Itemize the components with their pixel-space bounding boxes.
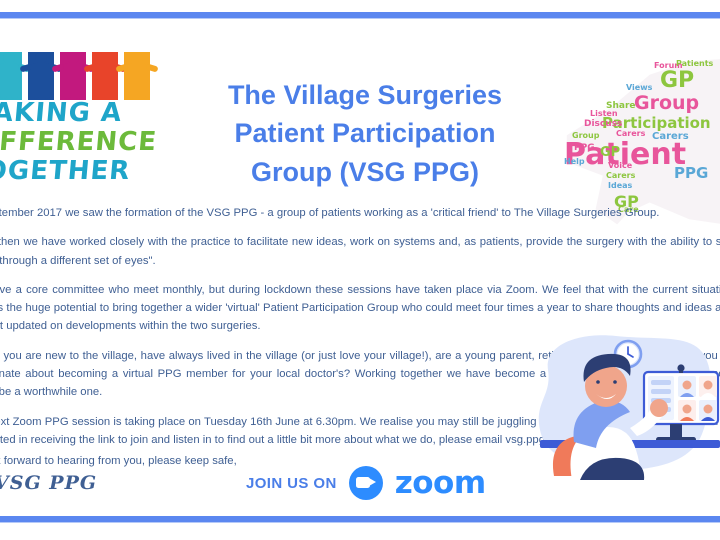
cloud-word-gp-9: GP <box>600 146 620 159</box>
video-camera-icon <box>349 466 383 500</box>
zoom-lockup: JOIN US ON zoom <box>246 466 486 500</box>
making-a-difference-logo: MAKING A DIFFERENCE TOGETHER <box>0 42 179 202</box>
cloud-word-help-20: Help <box>564 158 585 166</box>
title-line-2: Patient Participation <box>180 114 550 152</box>
paper-person-2 <box>0 52 22 100</box>
paper-person-6 <box>124 52 150 100</box>
top-accent-rule <box>0 12 720 18</box>
cloud-word-ideas-15: Ideas <box>608 182 632 190</box>
cloud-word-patients-17: Patients <box>676 60 713 68</box>
join-us-on-label: JOIN US ON <box>246 475 337 492</box>
cloud-word-listen-19: Listen <box>590 110 618 118</box>
logo-line-3: TOGETHER <box>0 158 179 184</box>
paragraph-2: Since then we have worked closely with t… <box>0 233 720 270</box>
cloud-word-carers-7: Carers <box>652 132 689 142</box>
video-call-illustration <box>520 330 720 480</box>
logo-line-1: MAKING A <box>0 100 179 126</box>
cloud-word-ppg-12: PPG <box>574 144 595 153</box>
paragraph-3: We have a core committee who meet monthl… <box>0 281 720 336</box>
logo-wordmark: MAKING A DIFFERENCE TOGETHER <box>0 100 178 187</box>
cloud-word-voice-13: Voice <box>608 162 632 170</box>
bottom-accent-rule <box>0 516 720 522</box>
video-call-svg <box>520 330 720 480</box>
title-line-3: Group (VSG PPG) <box>180 153 550 191</box>
paper-person-5 <box>92 52 118 100</box>
zoom-wordmark: zoom <box>395 465 486 501</box>
signature: VSG PPG <box>0 472 97 494</box>
poster-header: MAKING A DIFFERENCE TOGETHER The Village… <box>0 24 720 204</box>
cloud-word-carers-8: Carers <box>616 130 645 138</box>
cloud-word-group-2: Group <box>634 94 699 113</box>
cloud-word-carers-14: Carers <box>606 172 635 180</box>
cloud-word-views-18: Views <box>626 84 652 92</box>
paper-person-3 <box>28 52 54 100</box>
paper-person-4 <box>60 52 86 100</box>
cloud-word-ppg-4: PPG <box>674 166 708 181</box>
cloud-word-gp-3: GP <box>660 70 694 92</box>
cloud-word-group-11: Group <box>572 132 599 140</box>
poster-canvas: MAKING A DIFFERENCE TOGETHER The Village… <box>0 0 720 540</box>
camera-body-shape <box>356 477 370 488</box>
title-line-1: The Village Surgeries <box>180 76 550 114</box>
camera-lens-shape <box>369 478 376 486</box>
paragraph-1: In September 2017 we saw the formation o… <box>0 204 720 222</box>
paper-people-chain-icon <box>0 46 179 104</box>
poster-title: The Village Surgeries Patient Participat… <box>180 76 550 191</box>
logo-line-2: DIFFERENCE <box>0 129 179 155</box>
cloud-word-discuss-6: Discuss <box>584 120 622 129</box>
